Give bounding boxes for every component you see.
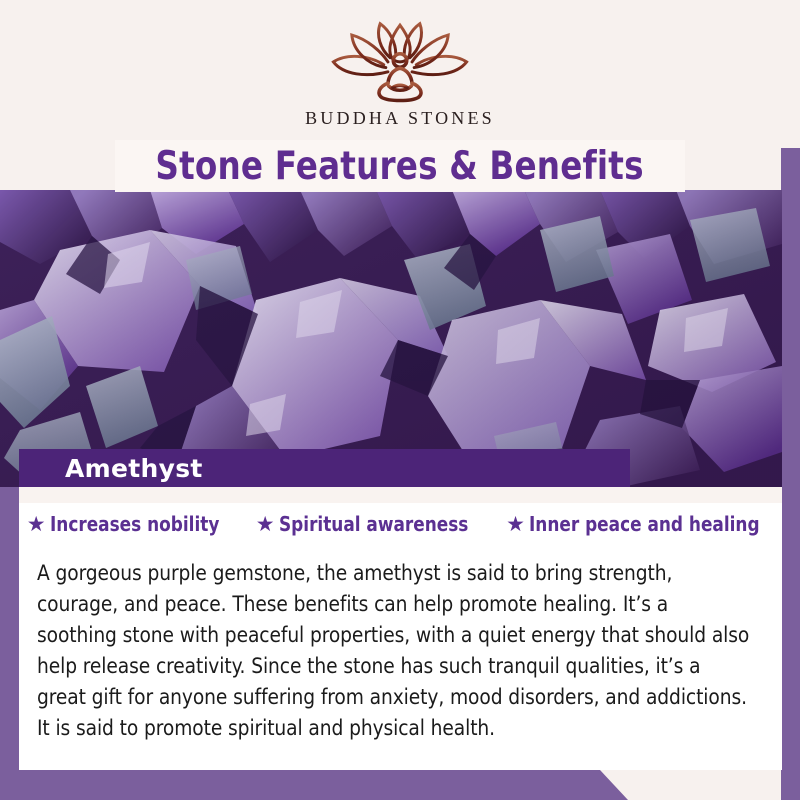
content-top-strip bbox=[19, 487, 782, 503]
amethyst-crystal-cluster-photo bbox=[0, 190, 782, 487]
brand-name: BUDDHA STONES bbox=[305, 108, 495, 129]
feature-item-2: ★ Spiritual awareness bbox=[256, 512, 480, 536]
feature-label: Spiritual awareness bbox=[279, 512, 468, 536]
stone-description-text: A gorgeous purple gemstone, the amethyst… bbox=[37, 558, 751, 744]
feature-list: ★ Increases nobility ★ Spiritual awarene… bbox=[19, 512, 782, 536]
card-header: BUDDHA STONES bbox=[0, 0, 800, 148]
title-band: Stone Features & Benefits bbox=[115, 140, 685, 192]
page-title: Stone Features & Benefits bbox=[156, 147, 644, 186]
star-icon: ★ bbox=[27, 514, 46, 535]
frame-bottom-border bbox=[0, 770, 800, 800]
feature-label: Inner peace and healing bbox=[529, 512, 760, 536]
feature-item-1: ★ Increases nobility bbox=[27, 512, 230, 536]
stone-description: A gorgeous purple gemstone, the amethyst… bbox=[37, 558, 777, 744]
star-icon: ★ bbox=[506, 514, 525, 535]
star-icon: ★ bbox=[256, 514, 275, 535]
feature-item-3: ★ Inner peace and healing bbox=[506, 512, 774, 536]
stone-name-band: Amethyst bbox=[19, 449, 630, 487]
feature-label: Increases nobility bbox=[50, 512, 219, 536]
stone-info-card: BUDDHA STONES Stone Features & Benefits bbox=[0, 0, 800, 800]
stone-name: Amethyst bbox=[19, 454, 203, 483]
frame-left-border bbox=[0, 487, 19, 800]
lotus-meditation-figure-icon bbox=[315, 18, 485, 104]
